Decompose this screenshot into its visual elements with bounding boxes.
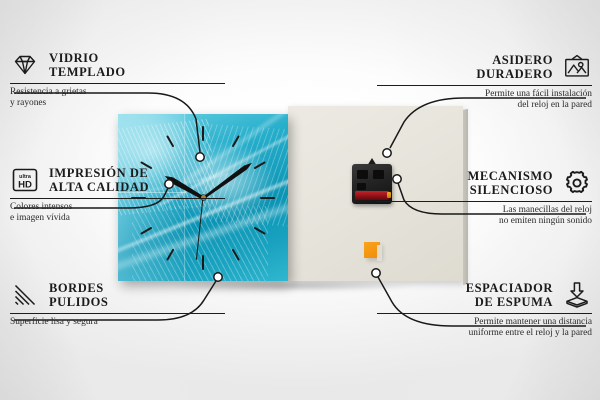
ultra-hd-icon: ultra HD — [10, 165, 40, 195]
feature-bordes-pulidos: BORDES PULIDOS Superficie lisa y segura — [10, 280, 225, 328]
feature-header: MECANISMO SILENCIOSO — [377, 168, 592, 198]
feature-vidrio-templado: VIDRIO TEMPLADO Resistencia a grietas y … — [10, 50, 225, 110]
feature-header: ultra HD IMPRESIÓN DE ALTA CALIDAD — [10, 165, 225, 195]
feature-description: Permite una fácil instalación del reloj … — [377, 89, 592, 112]
feature-divider — [377, 201, 592, 202]
feature-espaciador-de-espuma: ESPACIADOR DE ESPUMA Permite mantener un… — [377, 280, 592, 340]
feature-description: Las manecillas del reloj no emiten ningú… — [377, 205, 592, 228]
polished-edges-icon — [10, 280, 40, 310]
gear-icon — [562, 168, 592, 198]
feature-description: Superficie lisa y segura — [10, 317, 225, 328]
feature-divider — [377, 85, 592, 86]
feature-title: IMPRESIÓN DE ALTA CALIDAD — [49, 166, 149, 194]
feature-divider — [10, 313, 225, 314]
foam-spacer-icon — [562, 280, 592, 310]
feature-header: BORDES PULIDOS — [10, 280, 225, 310]
foam-spacer-sample — [364, 242, 380, 258]
diamond-icon — [10, 50, 40, 80]
feature-header: ASIDERO DURADERO — [377, 52, 592, 82]
feature-description: Permite mantener una distancia uniforme … — [377, 317, 592, 340]
feature-title: VIDRIO TEMPLADO — [49, 51, 126, 79]
feature-header: VIDRIO TEMPLADO — [10, 50, 225, 80]
feature-title: BORDES PULIDOS — [49, 281, 108, 309]
feature-mecanismo-silencioso: MECANISMO SILENCIOSO Las manecillas del … — [377, 168, 592, 228]
feature-asidero-duradero: ASIDERO DURADERO Permite una fácil insta… — [377, 52, 592, 112]
feature-description: Resistencia a grietas y rayones — [10, 87, 225, 110]
feature-title: MECANISMO SILENCIOSO — [467, 169, 553, 197]
feature-title: ASIDERO DURADERO — [476, 53, 553, 81]
hanging-frame-icon — [562, 52, 592, 82]
mechanism-notch-a — [357, 170, 368, 179]
infographic-canvas: VIDRIO TEMPLADO Resistencia a grietas y … — [0, 0, 600, 400]
feature-header: ESPACIADOR DE ESPUMA — [377, 280, 592, 310]
feature-divider — [377, 313, 592, 314]
feature-description: Colores intensos e imagen vívida — [10, 202, 225, 225]
feature-title: ESPACIADOR DE ESPUMA — [466, 281, 553, 309]
mechanism-notch-c — [357, 183, 366, 190]
feature-divider — [10, 83, 225, 84]
feature-divider — [10, 198, 225, 199]
feature-impresion-alta-calidad: ultra HD IMPRESIÓN DE ALTA CALIDAD Color… — [10, 165, 225, 225]
svg-text:HD: HD — [18, 180, 32, 191]
